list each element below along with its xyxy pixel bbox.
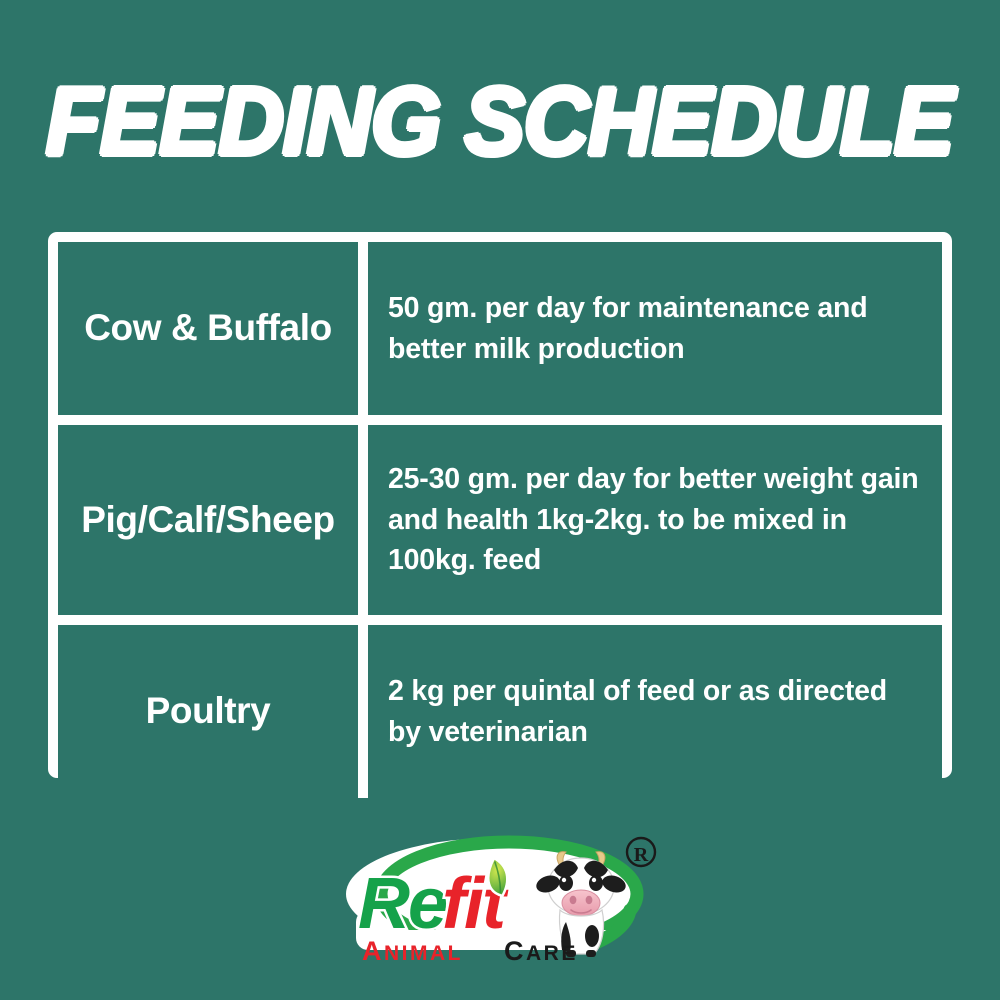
page-title-container: FEEDING SCHEDULE [0,74,1000,170]
table-row: Cow & Buffalo 50 gm. per day for mainten… [58,242,942,415]
dosage-text: 25-30 gm. per day for better weight gain… [388,459,924,581]
table-row: Poultry 2 kg per quintal of feed or as d… [58,625,942,798]
table-cell-animal: Cow & Buffalo [58,242,358,415]
animal-label: Cow & Buffalo [84,307,332,350]
svg-text:R: R [634,844,649,866]
row-divider [58,415,942,425]
table-cell-dosage: 2 kg per quintal of feed or as directed … [368,625,942,798]
brand-logo: Re fit [344,832,664,970]
animal-label: Pig/Calf/Sheep [81,499,334,542]
dosage-text: 2 kg per quintal of feed or as directed … [388,671,924,753]
table-cell-animal: Poultry [58,625,358,798]
table-cell-dosage: 25-30 gm. per day for better weight gain… [368,425,942,615]
dosage-text: 50 gm. per day for maintenance and bette… [388,288,924,370]
row-divider [58,615,942,625]
table-cell-animal: Pig/Calf/Sheep [58,425,358,615]
table-cell-dosage: 50 gm. per day for maintenance and bette… [368,242,942,415]
registered-trademark-icon: R [627,838,655,866]
logo-text-re: Re [358,864,447,944]
page-title: FEEDING SCHEDULE [46,74,953,170]
table-row: Pig/Calf/Sheep 25-30 gm. per day for bet… [58,425,942,615]
feeding-schedule-table: Cow & Buffalo 50 gm. per day for mainten… [48,232,952,778]
animal-label: Poultry [146,690,271,733]
